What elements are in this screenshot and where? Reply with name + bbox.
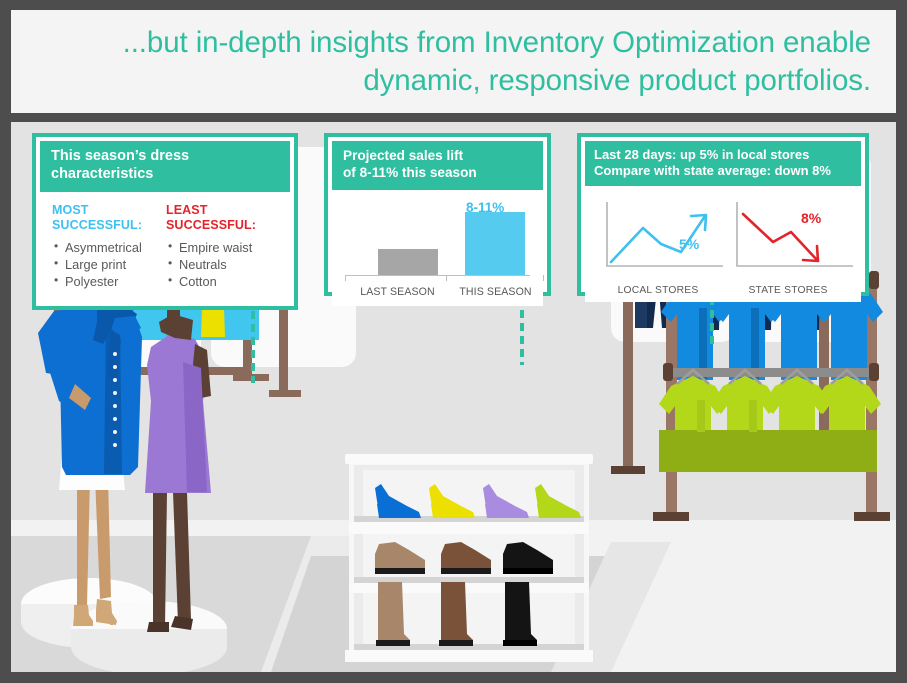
axis-tick [345,275,346,281]
card-head-line2: of 8-11% this season [343,165,533,182]
list-item: Empire waist [166,240,280,257]
card-projected-sales-header: Projected sales lift of 8-11% this seaso… [332,141,543,190]
card-dress-characteristics-body: MOST SUCCESSFUL: Asymmetrical Large prin… [40,192,290,296]
least-title-line1: LEAST [166,203,280,218]
mini-chart-state-stores: 8% STATE STORES [723,192,853,298]
axis-tick [543,275,544,281]
list-item: Polyester [52,274,166,291]
bar-this-season [465,212,525,275]
slide-root: ...but in-depth insights from Inventory … [0,0,907,683]
least-title-line2: SUCCESSFUL: [166,218,280,233]
most-successful-list: Asymmetrical Large print Polyester [52,240,166,291]
connector-line-right [710,297,714,349]
card-projected-sales-lift[interactable]: Projected sales lift of 8-11% this seaso… [324,133,551,296]
connector-line-left [251,311,255,383]
state-stores-label: STATE STORES [723,285,853,296]
page-title-line2: dynamic, responsive product portfolios. [123,62,871,100]
mini-charts-row: 5% LOCAL STORES 8% STATE STORES [593,192,853,298]
card-store-trends-header: Last 28 days: up 5% in local stores Comp… [585,141,861,186]
most-successful-title: MOST SUCCESSFUL: [52,203,166,233]
most-title-line1: MOST [52,203,166,218]
least-successful-list: Empire waist Neutrals Cotton [166,240,280,291]
shoe-shelving-unit [345,454,593,662]
chart-axis-line [345,275,530,276]
list-item: Large print [52,257,166,274]
card-dress-characteristics-header: This season’s dress characteristics [40,141,290,192]
card-head-line1: Last 28 days: up 5% in local stores [594,147,853,163]
connector-line-center [520,297,524,365]
category-label-last-season: LAST SEASON [350,286,445,298]
mini-chart-local-stores: 5% LOCAL STORES [593,192,723,298]
card-head-line1: This season’s dress [51,148,280,166]
header-banner: ...but in-depth insights from Inventory … [11,10,896,113]
card-dress-characteristics[interactable]: This season’s dress characteristics MOST… [32,133,298,310]
page-title: ...but in-depth insights from Inventory … [123,24,896,100]
list-item: Asymmetrical [52,240,166,257]
success-columns: MOST SUCCESSFUL: Asymmetrical Large prin… [52,203,280,290]
most-title-line2: SUCCESSFUL: [52,218,166,233]
least-successful-column: LEAST SUCCESSFUL: Empire waist Neutrals … [166,203,280,290]
card-store-trends-body: 5% LOCAL STORES 8% STATE STORES [585,186,861,302]
state-stores-line-graph [729,194,857,286]
card-store-trends[interactable]: Last 28 days: up 5% in local stores Comp… [577,133,869,296]
local-stores-value: 5% [679,236,699,252]
bar-last-season [378,249,438,275]
axis-tick [446,275,447,281]
local-stores-label: LOCAL STORES [593,285,723,296]
state-stores-value: 8% [801,210,821,226]
main-stage: This season’s dress characteristics MOST… [11,122,896,672]
bar-chart-sales-lift: 8-11% LAST SEASON THIS SEASON [340,198,535,302]
most-successful-column: MOST SUCCESSFUL: Asymmetrical Large prin… [52,203,166,290]
list-item: Neutrals [166,257,280,274]
card-head-line1: Projected sales lift [343,148,533,165]
category-label-this-season: THIS SEASON [448,286,543,298]
page-title-line1: ...but in-depth insights from Inventory … [123,24,871,62]
least-successful-title: LEAST SUCCESSFUL: [166,203,280,233]
list-item: Cotton [166,274,280,291]
card-head-line2: characteristics [51,166,280,184]
card-projected-sales-body: 8-11% LAST SEASON THIS SEASON [332,190,543,306]
card-head-line2: Compare with state average: down 8% [594,163,853,179]
local-stores-line-graph [599,194,727,286]
